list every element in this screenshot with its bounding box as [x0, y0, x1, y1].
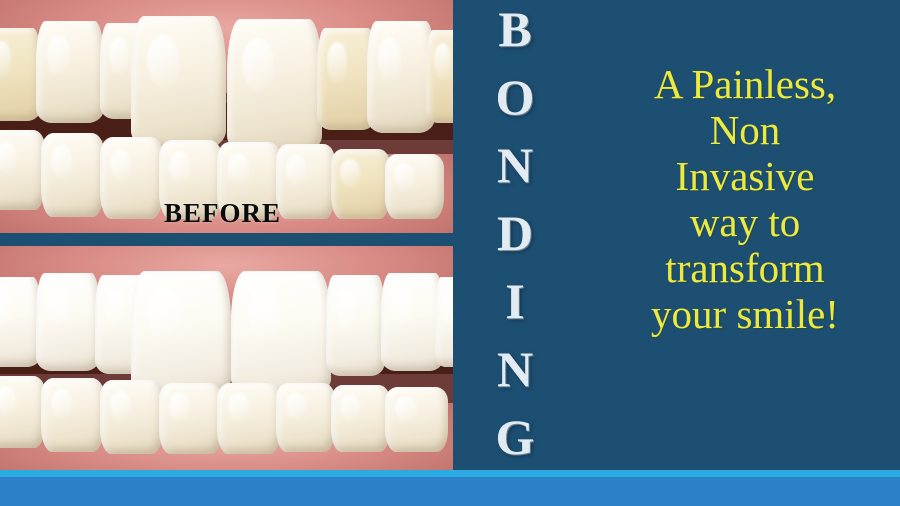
tooth-upper	[326, 275, 385, 376]
tooth-upper-central-right	[231, 271, 331, 396]
tooth-lower	[217, 383, 280, 455]
tooth-lower	[159, 383, 222, 455]
accent-bar	[0, 470, 900, 477]
bottom-bar	[0, 477, 900, 506]
title-letter: D	[497, 208, 533, 258]
title-letter: I	[505, 276, 524, 326]
tooth-lower	[41, 378, 104, 452]
tagline-line: your smile!	[592, 292, 898, 338]
tooth-lower	[385, 154, 444, 219]
tooth-upper	[367, 21, 435, 133]
tooth-lower	[385, 387, 448, 452]
tooth-upper	[0, 277, 41, 367]
tooth-lower	[100, 137, 163, 219]
title-letter: N	[497, 140, 533, 190]
before-photo: BEFORE	[0, 0, 453, 233]
tagline-line: transform	[592, 246, 898, 292]
tagline-text: A Painless, Non Invasive way to transfor…	[592, 62, 898, 337]
tooth-lower	[0, 130, 45, 209]
tooth-upper	[426, 30, 453, 123]
tooth-lower	[0, 376, 45, 448]
tooth-upper-central-left	[131, 271, 231, 396]
tagline-line: way to	[592, 200, 898, 246]
tooth-upper-central-right	[227, 19, 322, 154]
tooth-upper-central-left	[131, 16, 226, 149]
tooth-lower	[100, 380, 163, 454]
title-letter: B	[498, 4, 531, 54]
tooth-lower	[276, 144, 335, 219]
after-photo: AFTER	[0, 246, 453, 470]
tooth-lower	[331, 149, 390, 219]
vertical-title-bonding: B O N D I N G	[470, 0, 560, 470]
tooth-upper	[36, 21, 104, 124]
tagline-line: Invasive	[592, 154, 898, 200]
title-letter: G	[496, 412, 535, 462]
tooth-lower	[276, 383, 335, 452]
title-letter: O	[496, 72, 535, 122]
title-letter: N	[497, 344, 533, 394]
tooth-upper	[435, 277, 453, 367]
tagline-line: Non	[592, 108, 898, 154]
tooth-upper	[36, 273, 99, 372]
photo-comparison-column: BEFORE AFTER	[0, 0, 453, 470]
tooth-lower	[41, 133, 104, 217]
poster-canvas: BEFORE AFTER B O	[0, 0, 900, 506]
tooth-lower	[331, 385, 390, 452]
before-label: BEFORE	[164, 198, 281, 229]
tooth-upper	[0, 28, 41, 121]
tagline-line: A Painless,	[592, 62, 898, 108]
